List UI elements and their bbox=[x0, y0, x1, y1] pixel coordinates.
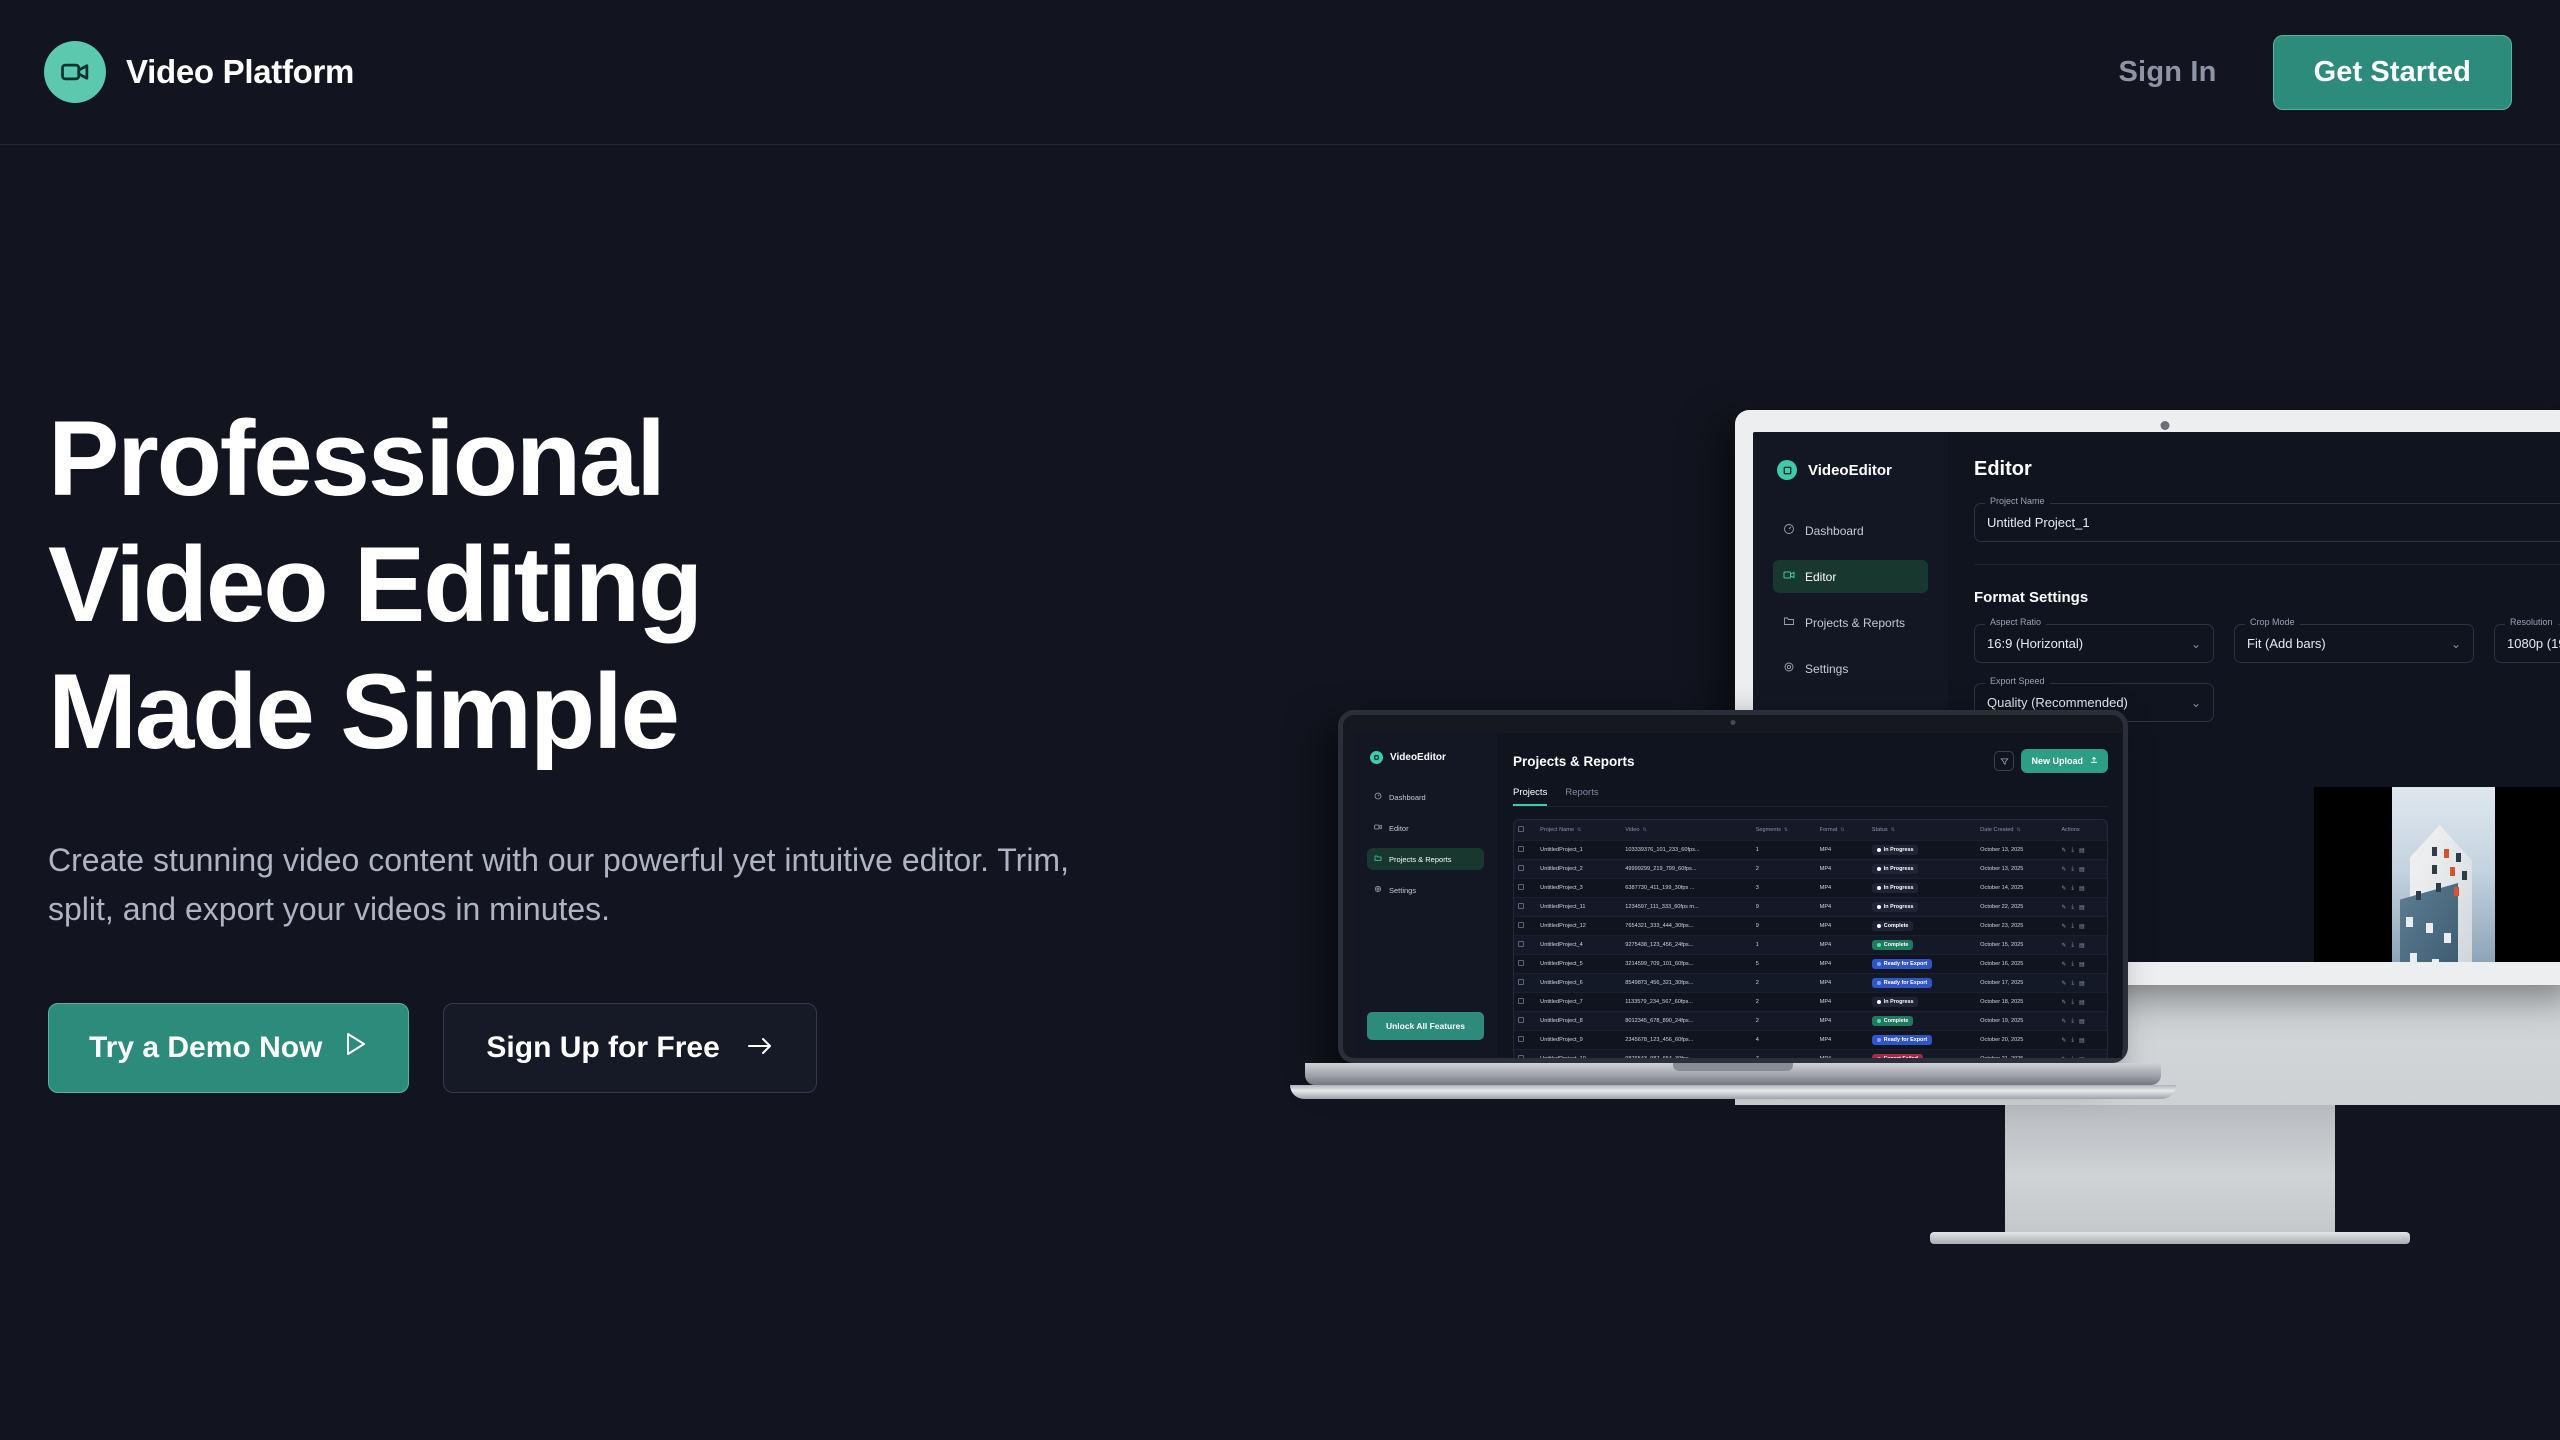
brand-logo-group[interactable]: Video Platform bbox=[44, 41, 354, 103]
folder-icon bbox=[1783, 615, 1795, 630]
delete-icon[interactable]: ▤ bbox=[2079, 942, 2085, 949]
cell-format: MP4 bbox=[1816, 860, 1868, 879]
download-icon[interactable]: ⤓ bbox=[2071, 1018, 2074, 1025]
cell-actions: ✎⤓▤ bbox=[2057, 1050, 2107, 1059]
cell-segments: 4 bbox=[1752, 1031, 1816, 1050]
laptop-base-notch bbox=[1673, 1063, 1793, 1071]
cell-segments: 1 bbox=[1752, 936, 1816, 955]
delete-icon[interactable]: ▤ bbox=[2079, 847, 2085, 854]
cell-date-created: October 19, 2025 bbox=[1976, 1012, 2057, 1031]
top-navbar: Video Platform Sign In Get Started bbox=[0, 0, 2560, 145]
gauge-icon bbox=[1783, 523, 1795, 538]
cell-segments: 2 bbox=[1752, 974, 1816, 993]
row-checkbox-cell[interactable] bbox=[1514, 841, 1536, 860]
cell-video: 9876543_987_654_30fps... bbox=[1621, 1050, 1751, 1059]
laptop-camera-notch bbox=[1690, 715, 1776, 729]
delete-icon[interactable]: ▤ bbox=[2079, 885, 2085, 892]
sidebar-item-projects-reports[interactable]: Projects & Reports bbox=[1773, 606, 1928, 639]
tab-reports[interactable]: Reports bbox=[1565, 787, 1598, 806]
cell-format: MP4 bbox=[1816, 955, 1868, 974]
col-format[interactable]: Format⇅ bbox=[1816, 820, 1868, 841]
tab-projects[interactable]: Projects bbox=[1513, 787, 1547, 806]
cell-segments: 5 bbox=[1752, 955, 1816, 974]
download-icon[interactable]: ⤓ bbox=[2071, 980, 2074, 987]
filter-funnel-icon[interactable] bbox=[1994, 751, 2014, 771]
cell-status: Export Failed bbox=[1868, 1050, 1976, 1059]
divider bbox=[1974, 564, 2560, 565]
delete-icon[interactable]: ▤ bbox=[2079, 980, 2085, 987]
cell-segments: 7 bbox=[1752, 1050, 1816, 1059]
edit-icon[interactable]: ✎ bbox=[2061, 904, 2066, 911]
projects-brand-label: VideoEditor bbox=[1390, 752, 1446, 763]
col-select[interactable] bbox=[1514, 820, 1536, 841]
cell-video: 2345678_123_456_60fps... bbox=[1621, 1031, 1751, 1050]
hero-subtitle: Create stunning video content with our p… bbox=[48, 836, 1103, 935]
cell-actions: ✎⤓▤ bbox=[2057, 879, 2107, 898]
gear-icon bbox=[1374, 885, 1382, 895]
cell-format: MP4 bbox=[1816, 841, 1868, 860]
projects-sidebar: VideoEditor Dashboard Edit bbox=[1354, 733, 1497, 1058]
sidebar-label: Editor bbox=[1805, 570, 1836, 584]
sidebar-label: Projects & Reports bbox=[1805, 616, 1905, 630]
cell-project-name: UntitledProject_11 bbox=[1536, 898, 1621, 917]
aspect-ratio-label: Aspect Ratio bbox=[1985, 617, 2046, 627]
brand-name: Video Platform bbox=[126, 53, 354, 91]
edit-icon[interactable]: ✎ bbox=[2061, 1037, 2066, 1044]
download-icon[interactable]: ⤓ bbox=[2071, 847, 2074, 854]
cell-status: Complete bbox=[1868, 936, 1976, 955]
cell-project-name: UntitledProject_12 bbox=[1536, 917, 1621, 936]
table-row[interactable]: UntitledProject_49275438_123_456_24fps..… bbox=[1514, 936, 2107, 955]
cell-video: 9275438_123_456_24fps... bbox=[1621, 936, 1751, 955]
status-badge: Complete bbox=[1872, 940, 1914, 950]
edit-icon[interactable]: ✎ bbox=[2061, 923, 2066, 930]
sidebar-item-dashboard[interactable]: Dashboard bbox=[1773, 514, 1928, 547]
crop-mode-select[interactable]: Crop Mode Fit (Add bars) ⌄ bbox=[2234, 624, 2474, 663]
row-checkbox[interactable] bbox=[1518, 1017, 1524, 1023]
status-badge: In Progress bbox=[1872, 883, 1919, 893]
sign-up-free-button[interactable]: Sign Up for Free bbox=[443, 1003, 816, 1093]
editor-brand-label: VideoEditor bbox=[1808, 462, 1892, 479]
cell-actions: ✎⤓▤ bbox=[2057, 898, 2107, 917]
delete-icon[interactable]: ▤ bbox=[2079, 1018, 2085, 1025]
cell-format: MP4 bbox=[1816, 974, 1868, 993]
aspect-ratio-select[interactable]: Aspect Ratio 16:9 (Horizontal) ⌄ bbox=[1974, 624, 2214, 663]
row-checkbox-cell[interactable] bbox=[1514, 955, 1536, 974]
download-icon[interactable]: ⤓ bbox=[2071, 923, 2074, 930]
cell-status: In Progress bbox=[1868, 898, 1976, 917]
row-checkbox-cell[interactable] bbox=[1514, 993, 1536, 1012]
cell-status: Ready for Export bbox=[1868, 955, 1976, 974]
edit-icon[interactable]: ✎ bbox=[2061, 847, 2066, 854]
row-checkbox[interactable] bbox=[1518, 865, 1524, 871]
cell-actions: ✎⤓▤ bbox=[2057, 917, 2107, 936]
upload-icon bbox=[2090, 756, 2098, 766]
cell-date-created: October 15, 2025 bbox=[1976, 936, 2057, 955]
laptop-mockup: VideoEditor Dashboard Edit bbox=[1338, 710, 2128, 1110]
delete-icon[interactable]: ▤ bbox=[2079, 999, 2085, 1006]
row-checkbox-cell[interactable] bbox=[1514, 1012, 1536, 1031]
resolution-label: Resolution bbox=[2505, 617, 2558, 627]
projects-sidebar-brand: VideoEditor bbox=[1367, 751, 1484, 764]
cell-status: In Progress bbox=[1868, 879, 1976, 898]
crop-mode-label: Crop Mode bbox=[2245, 617, 2300, 627]
cell-video: 1234597_111_333_60fps m... bbox=[1621, 898, 1751, 917]
cell-date-created: October 20, 2025 bbox=[1976, 1031, 2057, 1050]
cell-segments: 2 bbox=[1752, 1012, 1816, 1031]
cell-format: MP4 bbox=[1816, 1031, 1868, 1050]
get-started-button[interactable]: Get Started bbox=[2273, 35, 2512, 110]
sidebar-item-editor[interactable]: Editor bbox=[1773, 560, 1928, 593]
row-checkbox[interactable] bbox=[1518, 998, 1524, 1004]
download-icon[interactable]: ⤓ bbox=[2071, 866, 2074, 873]
cell-format: MP4 bbox=[1816, 1012, 1868, 1031]
cell-date-created: October 13, 2025 bbox=[1976, 841, 2057, 860]
download-icon[interactable]: ⤓ bbox=[2071, 904, 2074, 911]
projects-tabs: Projects Reports bbox=[1513, 787, 2108, 807]
status-badge: In Progress bbox=[1872, 845, 1919, 855]
edit-icon[interactable]: ✎ bbox=[2061, 866, 2066, 873]
download-icon[interactable]: ⤓ bbox=[2071, 1037, 2074, 1044]
table-row[interactable]: UntitledProject_1103339376_101_233_60fps… bbox=[1514, 841, 2107, 860]
export-speed-label: Export Speed bbox=[1985, 676, 2050, 686]
sidebar-item-editor[interactable]: Editor bbox=[1367, 817, 1484, 839]
edit-icon[interactable]: ✎ bbox=[2061, 1056, 2066, 1059]
cell-format: MP4 bbox=[1816, 898, 1868, 917]
try-demo-label: Try a Demo Now bbox=[89, 1031, 322, 1065]
cell-project-name: UntitledProject_3 bbox=[1536, 879, 1621, 898]
project-name-value: Untitled Project_1 bbox=[1987, 515, 2090, 530]
cell-status: Ready for Export bbox=[1868, 974, 1976, 993]
cell-video: 8012345_678_890_24fps... bbox=[1621, 1012, 1751, 1031]
status-badge: In Progress bbox=[1872, 864, 1919, 874]
projects-header-actions: New Upload bbox=[1994, 749, 2108, 773]
video-camera-icon bbox=[44, 41, 106, 103]
row-checkbox[interactable] bbox=[1518, 903, 1524, 909]
cell-segments: 2 bbox=[1752, 860, 1816, 879]
projects-table: Project Name⇅ Video⇅ Segments⇅ Format⇅ S… bbox=[1513, 819, 2108, 1058]
cell-date-created: October 22, 2025 bbox=[1976, 898, 2057, 917]
cell-actions: ✎⤓▤ bbox=[2057, 955, 2107, 974]
cell-actions: ✎⤓▤ bbox=[2057, 860, 2107, 879]
cell-status: Ready for Export bbox=[1868, 1031, 1976, 1050]
landing-page: Video Platform Sign In Get Started Profe… bbox=[0, 0, 2560, 1440]
col-project-name[interactable]: Project Name⇅ bbox=[1536, 820, 1621, 841]
cell-project-name: UntitledProject_2 bbox=[1536, 860, 1621, 879]
cell-actions: ✎⤓▤ bbox=[2057, 936, 2107, 955]
cell-segments: 9 bbox=[1752, 917, 1816, 936]
sort-icon: ⇅ bbox=[2016, 827, 2020, 833]
cell-segments: 1 bbox=[1752, 841, 1816, 860]
col-segments[interactable]: Segments⇅ bbox=[1752, 820, 1816, 841]
col-video[interactable]: Video⇅ bbox=[1621, 820, 1751, 841]
sidebar-label: Dashboard bbox=[1389, 793, 1426, 802]
download-icon[interactable]: ⤓ bbox=[2071, 961, 2074, 968]
edit-icon[interactable]: ✎ bbox=[2061, 885, 2066, 892]
aspect-ratio-value: 16:9 (Horizontal) bbox=[1987, 636, 2083, 651]
video-camera-icon bbox=[1374, 823, 1382, 833]
format-settings-title: Format Settings bbox=[1974, 589, 2560, 606]
nav-actions: Sign In Get Started bbox=[2119, 35, 2512, 110]
cell-project-name: UntitledProject_10 bbox=[1536, 1050, 1621, 1059]
sidebar-label: Settings bbox=[1389, 886, 1416, 895]
row-checkbox[interactable] bbox=[1518, 979, 1524, 985]
resolution-value: 1080p (1920x1080) bbox=[2507, 636, 2560, 651]
cta-button-row: Try a Demo Now Sign Up for Free bbox=[48, 1003, 1108, 1093]
row-checkbox-cell[interactable] bbox=[1514, 860, 1536, 879]
cell-status: In Progress bbox=[1868, 841, 1976, 860]
crop-mode-value: Fit (Add bars) bbox=[2247, 636, 2326, 651]
cell-date-created: October 14, 2025 bbox=[1976, 879, 2057, 898]
row-checkbox[interactable] bbox=[1518, 1036, 1524, 1042]
download-icon[interactable]: ⤓ bbox=[2071, 885, 2074, 892]
cell-date-created: October 18, 2025 bbox=[1976, 993, 2057, 1012]
cell-video: 49999299_219_799_60fps... bbox=[1621, 860, 1751, 879]
cell-video: 7654321_333_444_30fps... bbox=[1621, 917, 1751, 936]
projects-header: Projects & Reports New Upload bbox=[1513, 749, 2108, 773]
table-row[interactable]: UntitledProject_68549873_456_321_30fps..… bbox=[1514, 974, 2107, 993]
row-checkbox-cell[interactable] bbox=[1514, 936, 1536, 955]
row-checkbox-cell[interactable] bbox=[1514, 898, 1536, 917]
projects-page-title: Projects & Reports bbox=[1513, 754, 1635, 769]
cell-actions: ✎⤓▤ bbox=[2057, 1031, 2107, 1050]
cell-project-name: UntitledProject_1 bbox=[1536, 841, 1621, 860]
new-upload-button[interactable]: New Upload bbox=[2021, 749, 2108, 773]
sidebar-item-dashboard[interactable]: Dashboard bbox=[1367, 786, 1484, 808]
status-badge: Ready for Export bbox=[1872, 959, 1932, 969]
row-checkbox[interactable] bbox=[1518, 846, 1524, 852]
cell-video: 3214599_709_101_60fps... bbox=[1621, 955, 1751, 974]
row-checkbox-cell[interactable] bbox=[1514, 917, 1536, 936]
unlock-all-features-button[interactable]: Unlock All Features bbox=[1367, 1012, 1484, 1040]
table-row[interactable]: UntitledProject_71133579_234_567_60fps..… bbox=[1514, 993, 2107, 1012]
cell-format: MP4 bbox=[1816, 993, 1868, 1012]
cell-video: 6387730_411_199_30fps ... bbox=[1621, 879, 1751, 898]
cell-actions: ✎⤓▤ bbox=[2057, 1012, 2107, 1031]
sign-up-label: Sign Up for Free bbox=[486, 1031, 719, 1065]
laptop-screen: VideoEditor Dashboard Edit bbox=[1354, 733, 2122, 1058]
cell-status: In Progress bbox=[1868, 860, 1976, 879]
cell-date-created: October 17, 2025 bbox=[1976, 974, 2057, 993]
chevron-down-icon: ⌄ bbox=[2191, 637, 2201, 651]
sidebar-item-settings[interactable]: Settings bbox=[1367, 879, 1484, 901]
download-icon[interactable]: ⤓ bbox=[2071, 1056, 2074, 1059]
laptop-foot bbox=[1290, 1085, 2176, 1099]
cell-project-name: UntitledProject_4 bbox=[1536, 936, 1621, 955]
editor-sidebar-brand: VideoEditor bbox=[1773, 460, 1928, 480]
delete-icon[interactable]: ▤ bbox=[2079, 961, 2085, 968]
sidebar-item-projects-reports[interactable]: Projects & Reports bbox=[1367, 848, 1484, 870]
format-settings-grid: Aspect Ratio 16:9 (Horizontal) ⌄ Crop Mo… bbox=[1974, 624, 2560, 722]
table-row[interactable]: UntitledProject_127654321_333_444_30fps.… bbox=[1514, 917, 2107, 936]
col-actions: Actions bbox=[2057, 820, 2107, 841]
status-badge: In Progress bbox=[1872, 997, 1919, 1007]
cell-actions: ✎⤓▤ bbox=[2057, 993, 2107, 1012]
row-checkbox[interactable] bbox=[1518, 884, 1524, 890]
project-name-field[interactable]: Project Name Untitled Project_1 bbox=[1974, 503, 2560, 542]
cell-status: Complete bbox=[1868, 1012, 1976, 1031]
editor-page-title: Editor bbox=[1974, 458, 2560, 481]
status-badge: Complete bbox=[1872, 921, 1914, 931]
sort-icon: ⇅ bbox=[1784, 827, 1788, 833]
row-checkbox-cell[interactable] bbox=[1514, 974, 1536, 993]
row-checkbox-cell[interactable] bbox=[1514, 879, 1536, 898]
edit-icon[interactable]: ✎ bbox=[2061, 980, 2066, 987]
cell-format: MP4 bbox=[1816, 879, 1868, 898]
cell-project-name: UntitledProject_9 bbox=[1536, 1031, 1621, 1050]
sort-icon: ⇅ bbox=[1891, 827, 1895, 833]
table-row[interactable]: UntitledProject_53214599_709_101_60fps..… bbox=[1514, 955, 2107, 974]
video-preview-thumbnail bbox=[2392, 787, 2495, 962]
download-icon[interactable]: ⤓ bbox=[2071, 999, 2074, 1006]
monitor-stand bbox=[2005, 1105, 2335, 1235]
gauge-icon bbox=[1374, 792, 1382, 802]
row-checkbox[interactable] bbox=[1518, 960, 1524, 966]
monitor-camera-dot bbox=[2161, 421, 2170, 430]
cell-date-created: October 13, 2025 bbox=[1976, 860, 2057, 879]
page-title: Professional Video Editing Made Simple bbox=[48, 395, 1108, 774]
chevron-down-icon: ⌄ bbox=[2191, 696, 2201, 710]
cell-format: MP4 bbox=[1816, 936, 1868, 955]
col-date-created[interactable]: Date Created⇅ bbox=[1976, 820, 2057, 841]
table-body: UntitledProject_1103339376_101_233_60fps… bbox=[1514, 841, 2107, 1059]
delete-icon[interactable]: ▤ bbox=[2079, 1056, 2085, 1059]
delete-icon[interactable]: ▤ bbox=[2079, 1037, 2085, 1044]
download-icon[interactable]: ⤓ bbox=[2071, 942, 2074, 949]
video-camera-icon bbox=[1783, 569, 1795, 584]
cell-video: 8549873_456_321_30fps... bbox=[1621, 974, 1751, 993]
row-checkbox[interactable] bbox=[1518, 1055, 1524, 1058]
delete-icon[interactable]: ▤ bbox=[2079, 866, 2085, 873]
edit-icon[interactable]: ✎ bbox=[2061, 961, 2066, 968]
new-upload-label: New Upload bbox=[2031, 756, 2083, 766]
delete-icon[interactable]: ▤ bbox=[2079, 923, 2085, 930]
try-demo-button[interactable]: Try a Demo Now bbox=[48, 1003, 409, 1093]
edit-icon[interactable]: ✎ bbox=[2061, 942, 2066, 949]
cell-segments: 3 bbox=[1752, 879, 1816, 898]
row-checkbox-cell[interactable] bbox=[1514, 1031, 1536, 1050]
status-badge: In Progress bbox=[1872, 902, 1919, 912]
sidebar-item-settings[interactable]: Settings bbox=[1773, 652, 1928, 685]
video-camera-icon bbox=[1370, 751, 1383, 764]
cell-format: MP4 bbox=[1816, 1050, 1868, 1059]
cell-date-created: October 23, 2025 bbox=[1976, 917, 2057, 936]
sidebar-label: Dashboard bbox=[1805, 524, 1864, 538]
table-row[interactable]: UntitledProject_92345678_123_456_60fps..… bbox=[1514, 1031, 2107, 1050]
table-row[interactable]: UntitledProject_109876543_987_654_30fps.… bbox=[1514, 1050, 2107, 1059]
export-speed-value: Quality (Recommended) bbox=[1987, 695, 2128, 710]
col-status[interactable]: Status⇅ bbox=[1868, 820, 1976, 841]
headline-line-1: Professional bbox=[48, 398, 664, 518]
cell-video: 1133579_234_567_60fps... bbox=[1621, 993, 1751, 1012]
sidebar-label: Settings bbox=[1805, 662, 1848, 676]
cell-video: 103339376_101_233_60fps... bbox=[1621, 841, 1751, 860]
row-checkbox[interactable] bbox=[1518, 922, 1524, 928]
table-row[interactable]: UntitledProject_111234597_111_333_60fps … bbox=[1514, 898, 2107, 917]
status-badge: Complete bbox=[1872, 1016, 1914, 1026]
cell-project-name: UntitledProject_5 bbox=[1536, 955, 1621, 974]
select-all-checkbox[interactable] bbox=[1518, 826, 1524, 832]
status-badge: Export Failed bbox=[1872, 1054, 1923, 1058]
cell-format: MP4 bbox=[1816, 917, 1868, 936]
table-header-row: Project Name⇅ Video⇅ Segments⇅ Format⇅ S… bbox=[1514, 820, 2107, 841]
headline-line-3: Made Simple bbox=[48, 651, 678, 771]
edit-icon[interactable]: ✎ bbox=[2061, 999, 2066, 1006]
video-preview-frame[interactable] bbox=[2314, 787, 2560, 962]
cell-date-created: October 16, 2025 bbox=[1976, 955, 2057, 974]
cell-actions: ✎⤓▤ bbox=[2057, 841, 2107, 860]
edit-icon[interactable]: ✎ bbox=[2061, 1018, 2066, 1025]
cell-segments: 2 bbox=[1752, 993, 1816, 1012]
resolution-select[interactable]: Resolution 1080p (1920x1080) ⌄ bbox=[2494, 624, 2560, 663]
play-triangle-icon bbox=[344, 1031, 368, 1065]
cell-project-name: UntitledProject_8 bbox=[1536, 1012, 1621, 1031]
table-row[interactable]: UntitledProject_36387730_411_199_30fps .… bbox=[1514, 879, 2107, 898]
chevron-down-icon: ⌄ bbox=[2451, 637, 2461, 651]
row-checkbox-cell[interactable] bbox=[1514, 1050, 1536, 1059]
cell-project-name: UntitledProject_7 bbox=[1536, 993, 1621, 1012]
sign-in-link[interactable]: Sign In bbox=[2119, 56, 2217, 89]
video-camera-icon bbox=[1777, 460, 1797, 480]
status-badge: Ready for Export bbox=[1872, 978, 1932, 988]
sidebar-label: Projects & Reports bbox=[1389, 855, 1452, 864]
gear-icon bbox=[1783, 661, 1795, 676]
sort-icon: ⇅ bbox=[1840, 827, 1844, 833]
arrow-right-icon bbox=[746, 1031, 774, 1065]
table-row[interactable]: UntitledProject_88012345_678_890_24fps..… bbox=[1514, 1012, 2107, 1031]
table-row[interactable]: UntitledProject_249999299_219_799_60fps.… bbox=[1514, 860, 2107, 879]
sort-icon: ⇅ bbox=[1577, 827, 1581, 833]
monitor-foot bbox=[1930, 1232, 2410, 1244]
hero-section: Professional Video Editing Made Simple C… bbox=[48, 395, 1108, 1093]
device-mockups: VideoEditor Dashboard Editor bbox=[1330, 380, 2560, 1260]
sidebar-label: Editor bbox=[1389, 824, 1409, 833]
headline-line-2: Video Editing bbox=[48, 524, 701, 644]
sort-icon: ⇅ bbox=[1642, 827, 1646, 833]
cell-status: In Progress bbox=[1868, 993, 1976, 1012]
cell-segments: 9 bbox=[1752, 898, 1816, 917]
cell-project-name: UntitledProject_6 bbox=[1536, 974, 1621, 993]
cell-actions: ✎⤓▤ bbox=[2057, 974, 2107, 993]
delete-icon[interactable]: ▤ bbox=[2079, 904, 2085, 911]
folder-icon bbox=[1374, 854, 1382, 864]
cell-date-created: October 21, 2025 bbox=[1976, 1050, 2057, 1059]
row-checkbox[interactable] bbox=[1518, 941, 1524, 947]
laptop-lid: VideoEditor Dashboard Edit bbox=[1338, 710, 2128, 1063]
cell-status: Complete bbox=[1868, 917, 1976, 936]
project-name-label: Project Name bbox=[1985, 496, 2050, 506]
projects-main: Projects & Reports New Upload bbox=[1497, 733, 2122, 1058]
status-badge: Ready for Export bbox=[1872, 1035, 1932, 1045]
